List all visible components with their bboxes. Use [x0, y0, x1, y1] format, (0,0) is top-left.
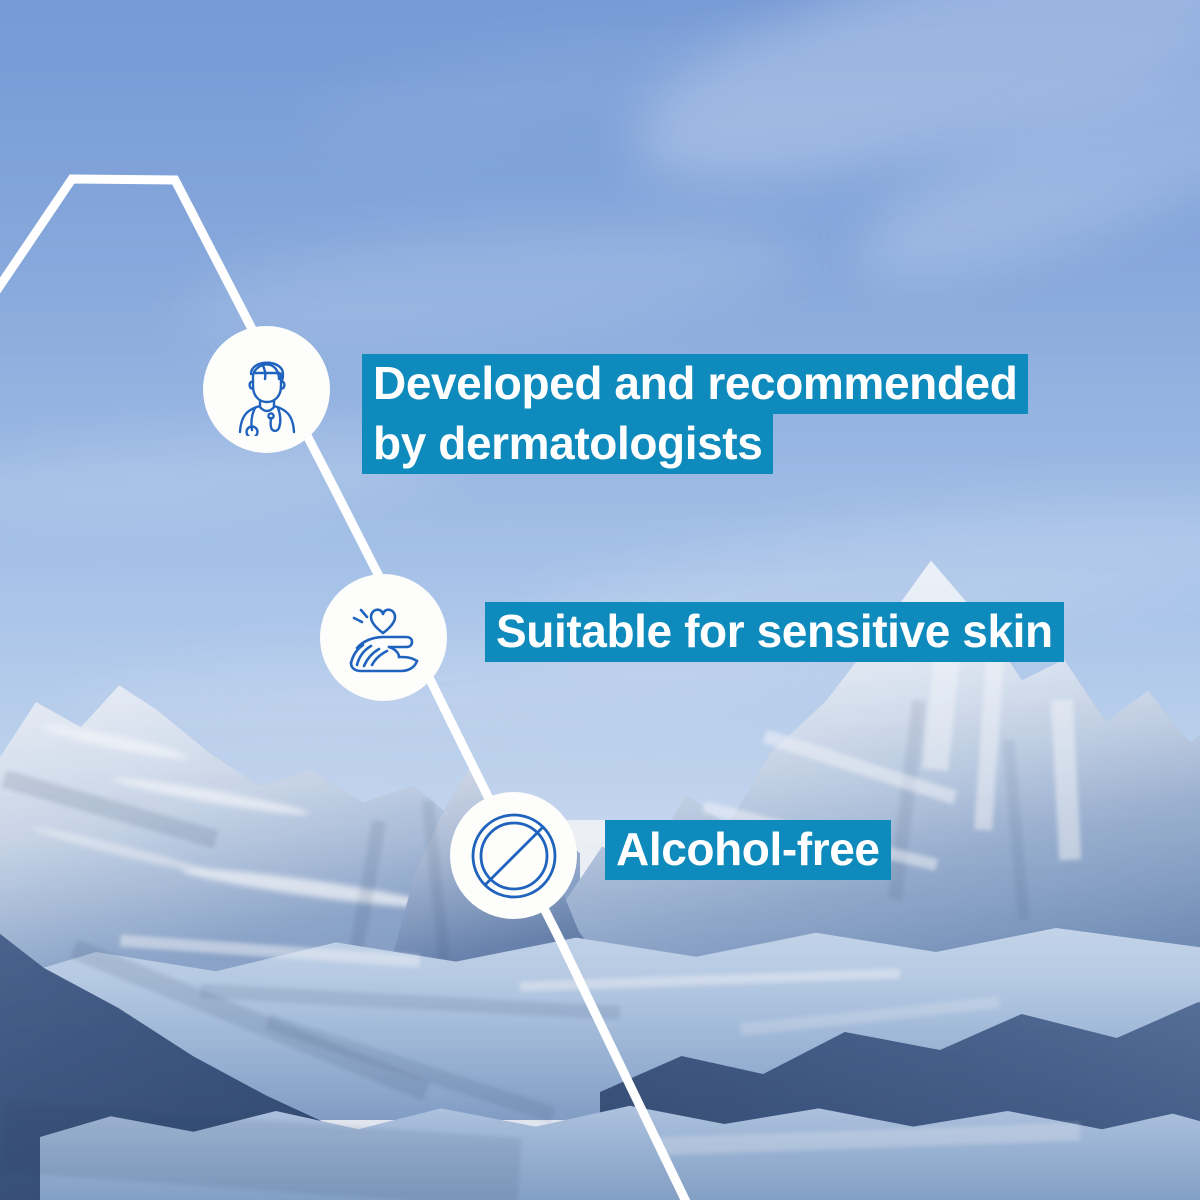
- feature-1-label-line-2: by dermatologists: [362, 414, 773, 474]
- feature-1-icon-bubble: [203, 326, 330, 453]
- feature-2-icon-bubble: [320, 574, 447, 701]
- promo-banner: Developed and recommended by dermatologi…: [0, 0, 1200, 1200]
- doctor-stethoscope-icon: [221, 344, 313, 436]
- background-photo: [0, 0, 1200, 1200]
- feature-1-labels: Developed and recommended by dermatologi…: [362, 354, 1028, 474]
- feature-2-labels: Suitable for sensitive skin: [485, 602, 1064, 662]
- feature-1-label-line-1: Developed and recommended: [362, 354, 1028, 414]
- hand-heart-icon: [337, 591, 431, 685]
- feature-3-labels: Alcohol-free: [605, 820, 891, 880]
- feature-3-icon-bubble: [450, 792, 577, 919]
- feature-3-label-line-1: Alcohol-free: [605, 820, 891, 880]
- feature-2-label-line-1: Suitable for sensitive skin: [485, 602, 1064, 662]
- no-alcohol-prohibited-icon: [466, 808, 562, 904]
- blue-color-grade-overlay: [0, 0, 1200, 1200]
